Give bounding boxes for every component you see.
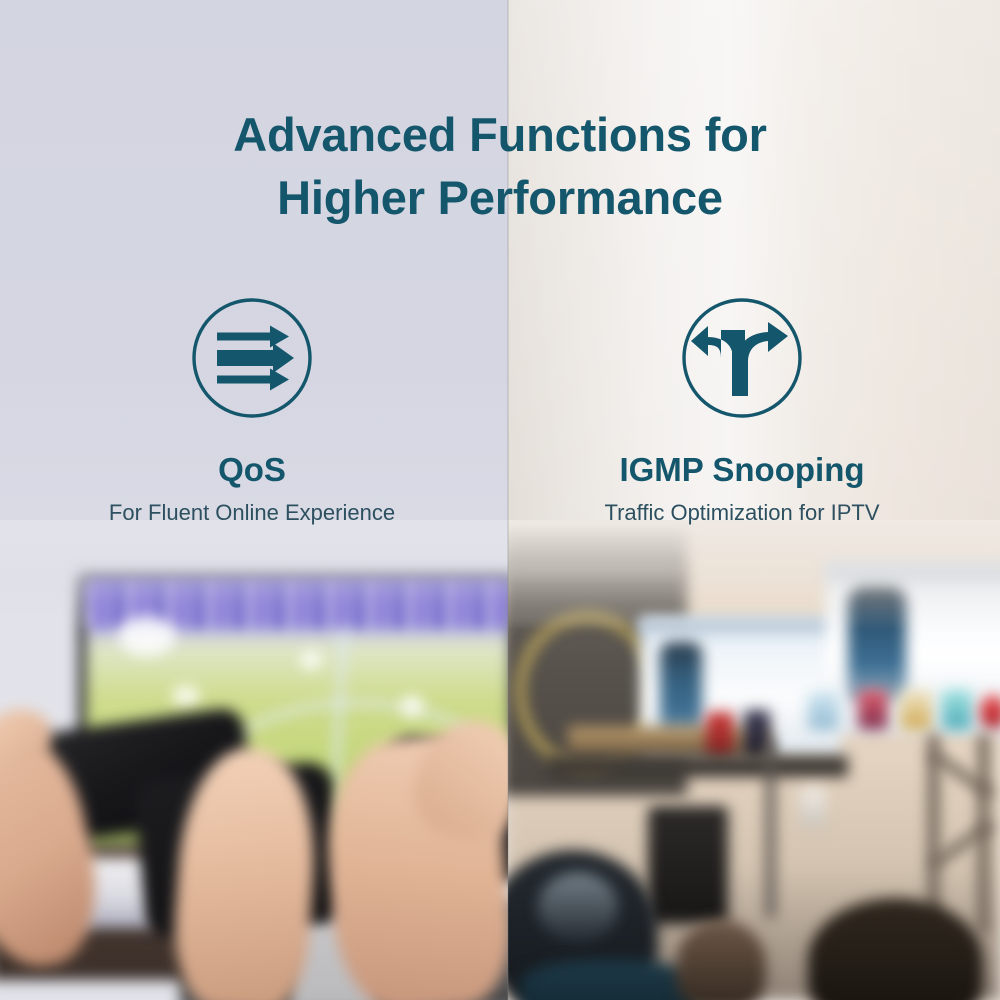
feature-igmp-subtitle: Traffic Optimization for IPTV xyxy=(492,500,992,526)
three-arrows-priority-icon xyxy=(190,296,314,420)
promo-banner: Advanced Functions for Higher Performanc… xyxy=(0,0,1000,1000)
branching-arrows-fork-icon xyxy=(680,296,804,420)
headline-line-1: Advanced Functions for xyxy=(0,104,1000,167)
feature-qos: QoS For Fluent Online Experience xyxy=(2,296,502,527)
feature-qos-title: QoS xyxy=(2,452,502,488)
feature-igmp-title: IGMP Snooping xyxy=(492,452,992,488)
feature-qos-subtitle: For Fluent Online Experience xyxy=(2,500,502,526)
headline-line-2: Higher Performance xyxy=(0,167,1000,230)
page-title: Advanced Functions for Higher Performanc… xyxy=(0,104,1000,229)
feature-igmp: IGMP Snooping Traffic Optimization for I… xyxy=(492,296,992,527)
